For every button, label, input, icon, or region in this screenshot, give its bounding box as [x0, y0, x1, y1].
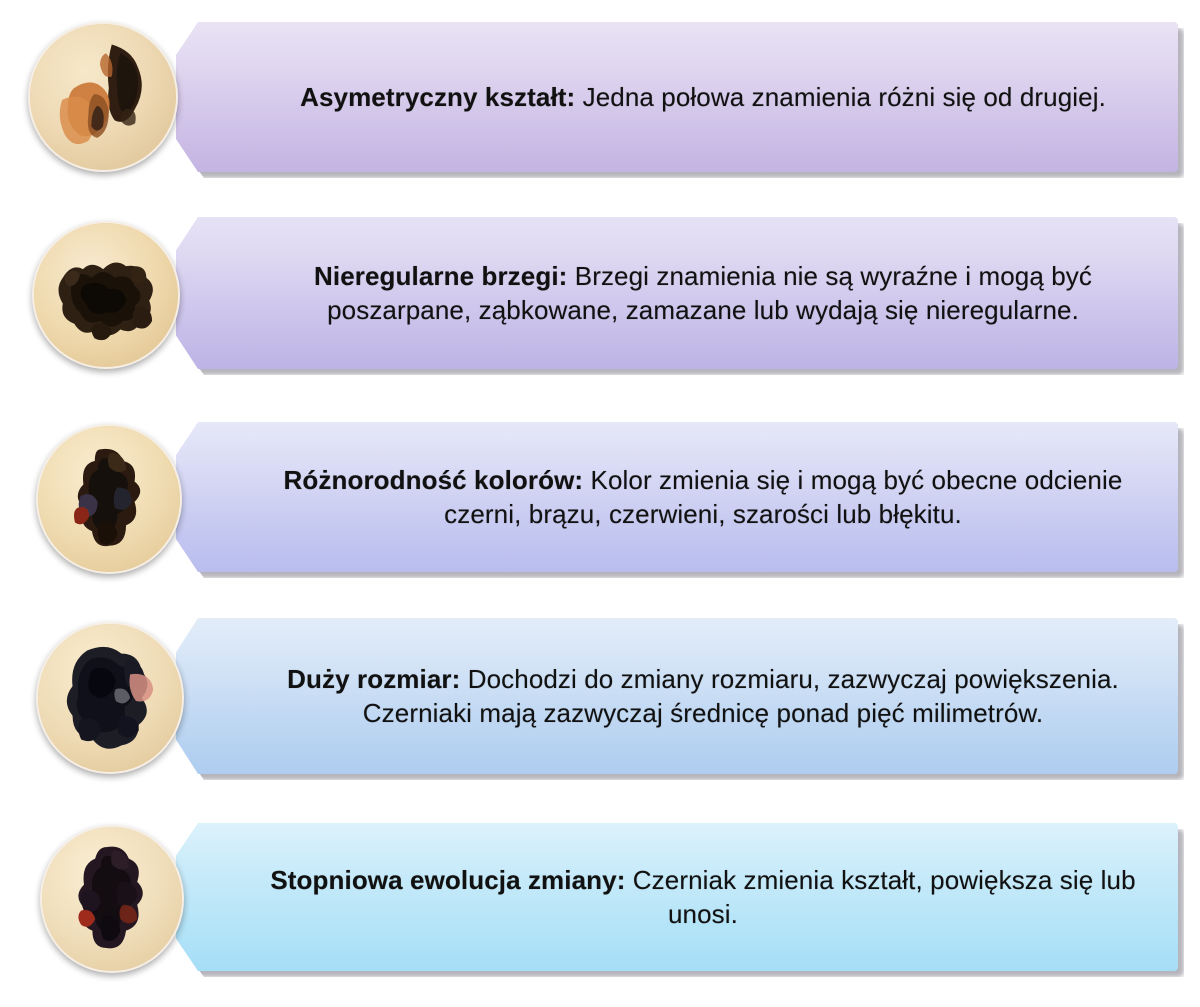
lesion-thumb-wrap-color [36, 424, 182, 574]
criterion-body-evolving: Czerniak zmienia kształt, powiększa się … [633, 865, 1136, 929]
criterion-banner-color[interactable]: Różnorodność kolorów: Kolor zmienia się … [176, 422, 1178, 572]
criterion-text-asymmetry: Asymetryczny kształt: Jedna połowa znami… [300, 80, 1106, 114]
lesion-shape-asymmetry [30, 24, 176, 170]
criterion-lead-border: Nieregularne brzegi: [314, 261, 567, 291]
criterion-banner-border[interactable]: Nieregularne brzegi: Brzegi znamienia ni… [176, 217, 1178, 369]
lesion-image-asymmetry[interactable] [28, 22, 178, 172]
criterion-row-asymmetry: Asymetryczny kształt: Jedna połowa znami… [0, 22, 1200, 182]
lesion-image-border[interactable] [32, 221, 180, 369]
lesion-thumb-wrap-border [32, 221, 180, 369]
lesion-thumb-wrap-asymmetry [28, 22, 178, 172]
lesion-shape-diameter [38, 624, 182, 772]
criterion-row-border: Nieregularne brzegi: Brzegi znamienia ni… [0, 217, 1200, 379]
lesion-image-color[interactable] [36, 424, 182, 574]
lesion-shape-border [34, 223, 178, 367]
criterion-lead-color: Różnorodność kolorów: [284, 465, 584, 495]
lesion-thumb-wrap-evolving [40, 825, 184, 973]
criterion-text-border: Nieregularne brzegi: Brzegi znamienia ni… [254, 259, 1152, 328]
criterion-lead-diameter: Duży rozmiar: [287, 664, 460, 694]
lesion-image-diameter[interactable] [36, 622, 184, 774]
criterion-body-asymmetry: Jedna połowa znamienia różni się od drug… [583, 82, 1106, 112]
criterion-text-evolving: Stopniowa ewolucja zmiany: Czerniak zmie… [254, 863, 1152, 932]
criterion-row-diameter: Duży rozmiar: Dochodzi do zmiany rozmiar… [0, 618, 1200, 784]
criterion-banner-diameter[interactable]: Duży rozmiar: Dochodzi do zmiany rozmiar… [176, 618, 1178, 774]
criterion-body-diameter: Dochodzi do zmiany rozmiaru, zazwyczaj p… [363, 664, 1119, 728]
criterion-banner-asymmetry[interactable]: Asymetryczny kształt: Jedna połowa znami… [176, 22, 1178, 172]
criterion-banner-evolving[interactable]: Stopniowa ewolucja zmiany: Czerniak zmie… [176, 823, 1178, 971]
abcde-melanoma-infographic: Asymetryczny kształt: Jedna połowa znami… [0, 0, 1200, 1007]
criterion-row-evolving: Stopniowa ewolucja zmiany: Czerniak zmie… [0, 823, 1200, 981]
lesion-image-evolving[interactable] [40, 825, 184, 973]
lesion-thumb-wrap-diameter [36, 622, 184, 774]
criterion-lead-evolving: Stopniowa ewolucja zmiany: [270, 865, 625, 895]
lesion-shape-color [38, 426, 180, 572]
criterion-lead-asymmetry: Asymetryczny kształt: [300, 82, 575, 112]
criterion-text-color: Różnorodność kolorów: Kolor zmienia się … [254, 463, 1152, 532]
lesion-shape-evolving [42, 827, 182, 971]
criterion-row-color: Różnorodność kolorów: Kolor zmienia się … [0, 422, 1200, 582]
criterion-text-diameter: Duży rozmiar: Dochodzi do zmiany rozmiar… [254, 662, 1152, 731]
